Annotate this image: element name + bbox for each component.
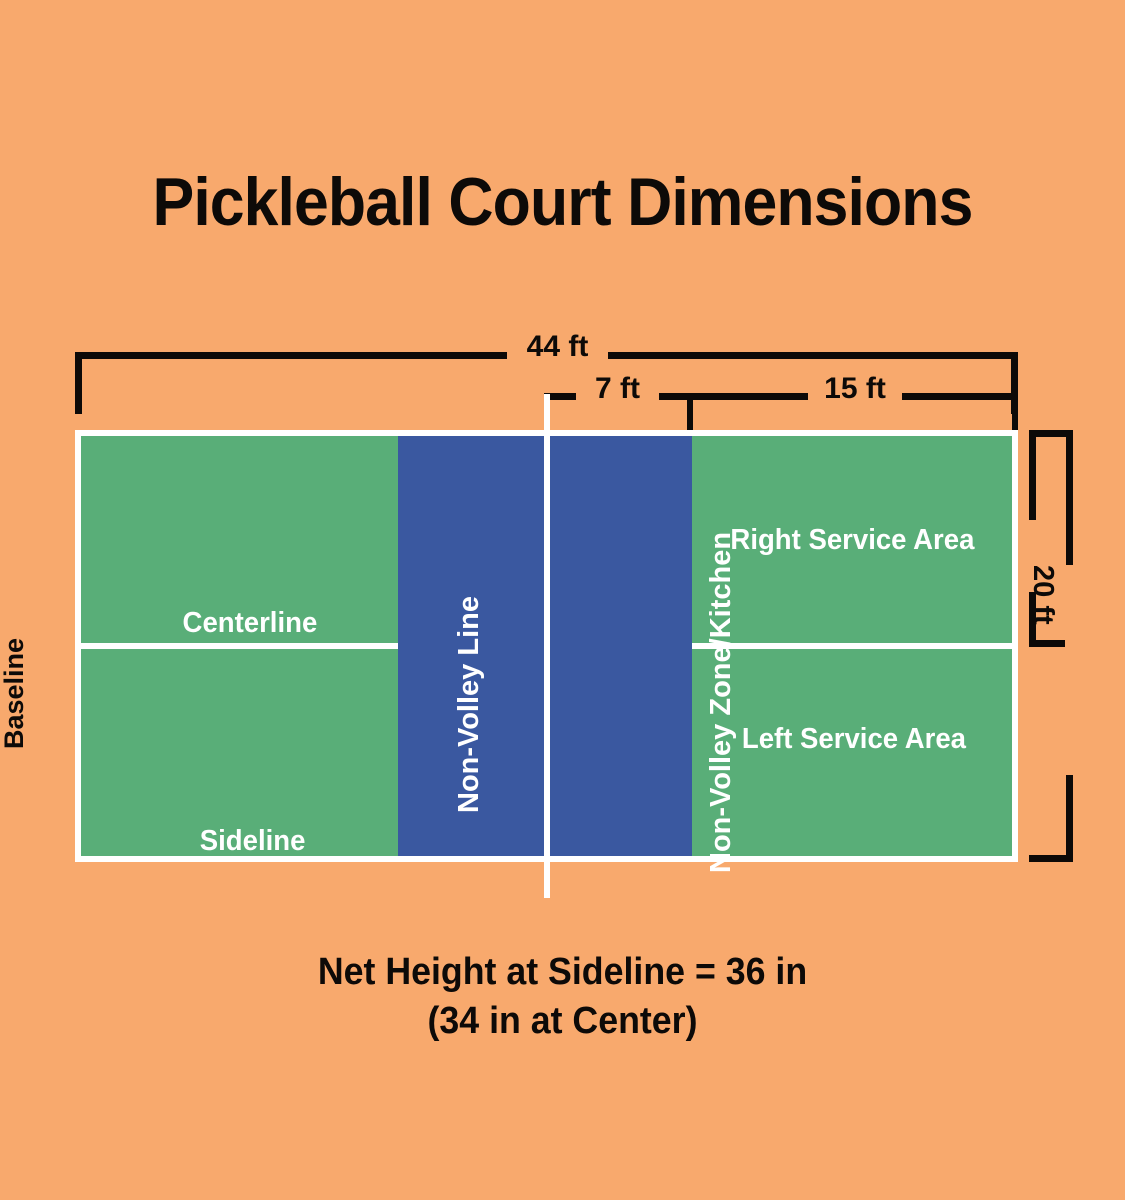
dim-20ft-label: 20 ft (1026, 565, 1059, 625)
dim-10ft-bar-upper (1029, 430, 1036, 520)
net-height-caption: Net Height at Sideline = 36 in (34 in at… (34, 948, 1092, 1045)
caption-line-2: (34 in at Center) (34, 997, 1092, 1046)
dim-15ft-label: 15 ft (808, 372, 902, 406)
net-center-line (544, 394, 550, 898)
label-centerline: Centerline (183, 607, 318, 640)
caption-line-1: Net Height at Sideline = 36 in (34, 948, 1092, 997)
dim-44ft-bar-right (608, 352, 1018, 359)
label-right-service-area: Right Service Area (730, 524, 974, 557)
dim-20ft-bar-lower (1066, 775, 1073, 862)
dim-20ft-top-tick (1029, 430, 1073, 437)
dim-44ft-bar-left (75, 352, 507, 359)
dim-7ft-label: 7 ft (576, 372, 659, 406)
label-sideline: Sideline (200, 825, 306, 858)
dim-10ft-bottom-tick (1029, 640, 1065, 647)
dim-20ft-bar-upper (1066, 430, 1073, 565)
dim-20ft-bottom-tick (1029, 855, 1073, 862)
dim-15ft-bar-left (687, 393, 808, 400)
label-non-volley-line: Non-Volley Line (453, 596, 486, 813)
label-left-service-area: Left Service Area (742, 723, 966, 756)
dim-15ft-bar-right (902, 393, 1018, 400)
court-zone-kitchen-right (550, 436, 692, 856)
label-non-volley-zone: Non-Volley Zone/Kitchen (705, 532, 738, 873)
pickleball-court: Centerline Sideline Right Service Area L… (75, 430, 1018, 862)
label-baseline: Baseline (0, 638, 30, 749)
diagram-canvas: Pickleball Court Dimensions 44 ft 7 ft 1… (0, 0, 1125, 1200)
dim-44ft-left-tick (75, 352, 82, 414)
page-title: Pickleball Court Dimensions (45, 163, 1080, 241)
dim-44ft-label: 44 ft (507, 330, 608, 364)
